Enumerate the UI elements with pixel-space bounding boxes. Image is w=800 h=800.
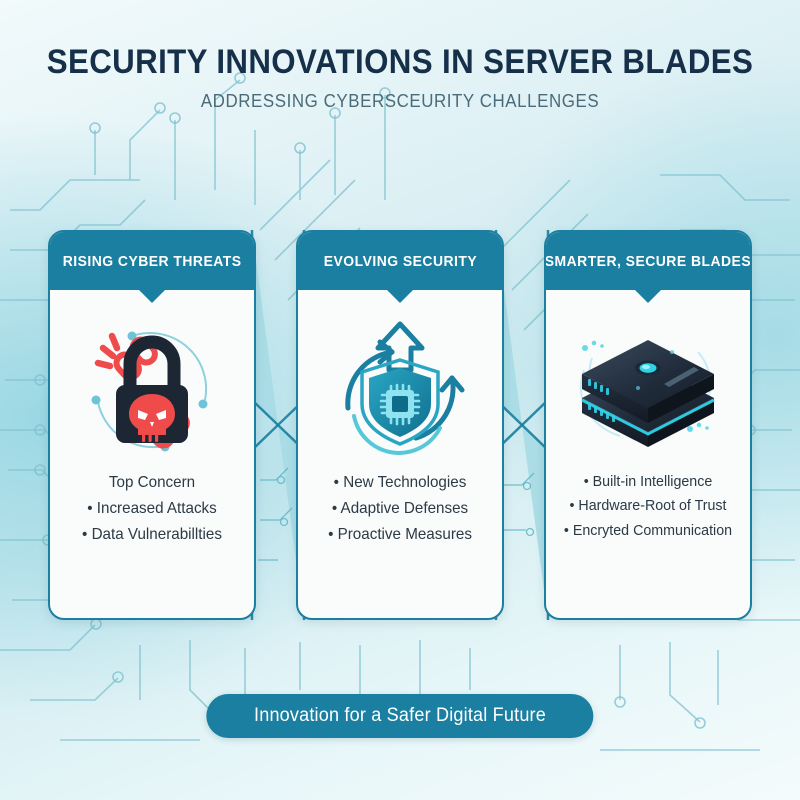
bullet-line: • Hardware-Root of Trust — [551, 494, 745, 518]
card-evolving-security[interactable]: EVOLVING SECURITY — [296, 230, 504, 620]
card-body-1: Top Concern • Increased Attacks • Data V… — [50, 290, 254, 617]
bullet-line: Top Concern — [55, 470, 249, 496]
card-title-1: RISING CYBER THREATS — [63, 253, 242, 270]
page-subtitle: ADDRESSING CYBERSCEURITY CHALLENGES — [24, 91, 776, 112]
bullet-line: • Proactive Measures — [303, 522, 497, 548]
card-rising-cyber-threats[interactable]: RISING CYBER THREATS — [48, 230, 256, 620]
card-title-2: EVOLVING SECURITY — [323, 253, 476, 270]
footer-banner-text: Innovation for a Safer Digital Future — [254, 705, 546, 727]
page-title: SECURITY INNOVATIONS IN SERVER BLADES — [32, 44, 768, 81]
bullet-line: • Data Vulnerabillties — [55, 522, 249, 548]
bullet-line: • Increased Attacks — [55, 496, 249, 522]
card-smarter-secure-blades[interactable]: SMARTER, SECURE BLADES — [544, 230, 752, 620]
broken-padlock-skull-icon — [72, 312, 232, 462]
card-header-2: EVOLVING SECURITY — [298, 232, 502, 290]
footer-banner[interactable]: Innovation for a Safer Digital Future — [206, 694, 593, 738]
bullet-line: • Built-in Intelligence — [551, 470, 745, 494]
bullet-line: • New Technologies — [303, 470, 497, 496]
card-title-3: SMARTER, SECURE BLADES — [545, 253, 751, 270]
card-body-3: • Built-in Intelligence • Hardware-Root … — [546, 290, 750, 617]
card-header-3: SMARTER, SECURE BLADES — [546, 232, 750, 290]
shield-cpu-cycle-icon — [320, 312, 480, 462]
bullet-line: • Adaptive Defenses — [303, 496, 497, 522]
card-header-1: RISING CYBER THREATS — [50, 232, 254, 290]
card-body-2: • New Technologies • Adaptive Defenses •… — [298, 290, 502, 617]
server-blade-stack-icon — [568, 312, 728, 462]
card-bullets-1: Top Concern • Increased Attacks • Data V… — [50, 470, 254, 548]
bullet-line: • Encryted Communication — [551, 519, 745, 543]
infographic-canvas: SECURITY INNOVATIONS IN SERVER BLADES AD… — [0, 0, 800, 800]
card-bullets-2: • New Technologies • Adaptive Defenses •… — [298, 470, 502, 548]
header-block: SECURITY INNOVATIONS IN SERVER BLADES AD… — [0, 44, 800, 112]
card-bullets-3: • Built-in Intelligence • Hardware-Root … — [546, 470, 750, 543]
